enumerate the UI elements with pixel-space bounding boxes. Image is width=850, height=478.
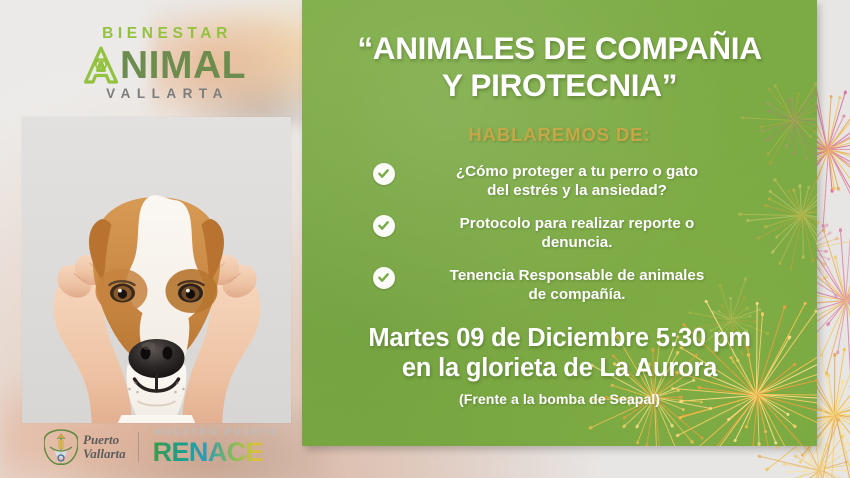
check-circle-icon — [373, 267, 395, 289]
brand-logo: BIENESTAR NIMAL VALLARTA — [62, 26, 267, 100]
topic-item-label: Protocolo para realizar reporte odenunci… — [408, 214, 747, 253]
brand-line-bienestar: BIENESTAR — [67, 26, 267, 42]
puerto-vallarta-logo: Puerto Vallarta — [22, 429, 126, 465]
topic-item: Protocolo para realizar reporte odenunci… — [373, 214, 747, 253]
dog-head-icon — [83, 46, 119, 84]
topic-item: Tenencia Responsable de animalesde compa… — [373, 266, 747, 305]
poster-title: “ANIMALES DE COMPAÑIA Y PIROTECNIA” — [318, 30, 801, 104]
title-line-1: “ANIMALES DE COMPAÑIA — [318, 30, 801, 67]
dog-illustration — [49, 169, 264, 423]
topic-line-2: del estrés y la ansiedad? — [408, 181, 747, 200]
topic-line-2: denuncia. — [408, 233, 747, 252]
event-details: Martes 09 de Diciembre 5:30 pm en la glo… — [302, 324, 817, 383]
renace-logo: NUESTRO PUERTO RENACE — [153, 428, 280, 467]
panel-content: “ANIMALES DE COMPAÑIA Y PIROTECNIA” HABL… — [302, 30, 817, 408]
puerto-vallarta-wordmark: Puerto Vallarta — [83, 433, 126, 460]
footer-logo-strip: Puerto Vallarta NUESTRO PUERTO RENACE — [22, 424, 291, 470]
check-circle-icon — [373, 163, 395, 185]
title-line-2: Y PIROTECNIA” — [318, 67, 801, 104]
poster-canvas: BIENESTAR NIMAL VALLARTA — [0, 0, 850, 478]
event-location-note: (Frente a la bomba de Seapal) — [302, 392, 817, 408]
topic-item: ¿Cómo proteger a tu perro o gatodel estr… — [373, 162, 747, 201]
brand-line-vallarta: VALLARTA — [68, 87, 267, 101]
dog-photo — [22, 117, 291, 423]
puerto-vallarta-crest-icon — [44, 429, 78, 465]
topic-line-2: de compañía. — [408, 285, 747, 304]
check-circle-icon — [373, 215, 395, 237]
topic-item-label: Tenencia Responsable de animalesde compa… — [408, 266, 747, 305]
event-location: en la glorieta de La Aurora — [302, 354, 817, 384]
topic-item-label: ¿Cómo proteger a tu perro o gatodel estr… — [408, 162, 747, 201]
topic-line-1: Tenencia Responsable de animales — [408, 266, 747, 285]
topic-line-1: Protocolo para realizar reporte o — [408, 214, 747, 233]
event-date-time: Martes 09 de Diciembre 5:30 pm — [302, 324, 817, 354]
renace-tagline: NUESTRO PUERTO — [155, 428, 280, 438]
main-green-panel: “ANIMALES DE COMPAÑIA Y PIROTECNIA” HABL… — [302, 0, 817, 446]
pv-line-2: Vallarta — [83, 446, 126, 461]
topics-list: ¿Cómo proteger a tu perro o gatodel estr… — [373, 162, 747, 305]
brand-line-animal: NIMAL — [62, 44, 267, 84]
brand-animal-text: NIMAL — [120, 48, 246, 84]
topic-line-1: ¿Cómo proteger a tu perro o gato — [408, 162, 747, 181]
section-subtitle: HABLAREMOS DE: — [302, 124, 817, 146]
logo-divider — [138, 432, 139, 462]
renace-wordmark: RENACE — [153, 439, 280, 466]
